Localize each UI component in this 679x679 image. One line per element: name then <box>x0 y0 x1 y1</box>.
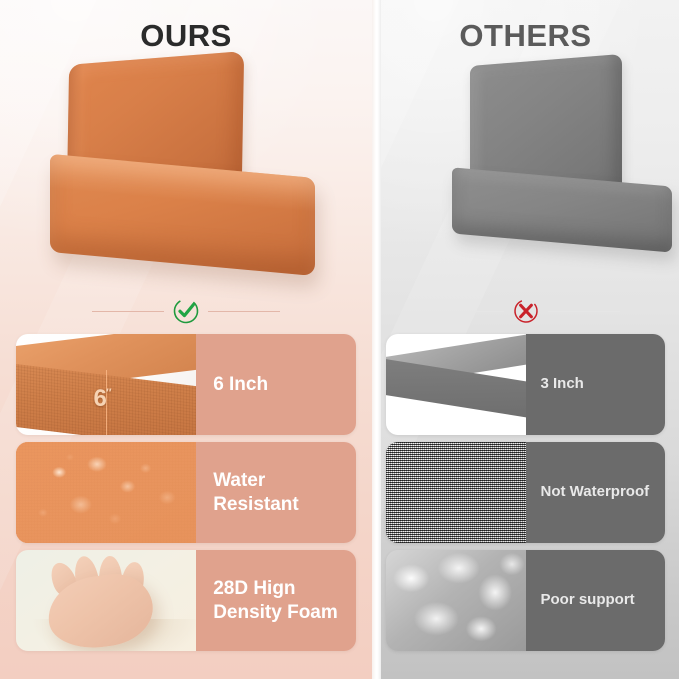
panel-divider <box>372 0 381 679</box>
others-feature-label-1: 3 Inch <box>526 334 666 435</box>
others-feature-label-3: Poor support <box>526 550 666 651</box>
comparison-infographic: OURS 6″ <box>0 0 679 679</box>
gray-mesh-fabric-photo <box>386 442 526 543</box>
others-badge-line-left <box>432 311 504 312</box>
six-inch-overlay-unit: ″ <box>106 386 111 400</box>
ours-feature-card-1: 6″ 6 Inch <box>16 334 356 435</box>
ours-hero-cushion <box>50 58 330 293</box>
ours-badge-line-right <box>208 311 280 312</box>
cushion-thickness-6in-photo: 6″ <box>16 334 196 435</box>
ours-badge-row <box>0 296 372 326</box>
loose-fiber-fill-photo <box>386 550 526 651</box>
ours-heading: OURS <box>0 18 372 54</box>
six-inch-overlay-number: 6 <box>93 385 105 412</box>
ours-feature-list: 6″ 6 Inch Water Resistant 28D Hig <box>0 334 372 658</box>
others-feature-list: 3 Inch Not Waterproof Poor support <box>372 334 679 658</box>
ours-feature-card-2: Water Resistant <box>16 442 356 543</box>
others-hero-cushion <box>452 60 679 285</box>
thin-gray-cushion-photo <box>386 334 526 435</box>
ours-badge-line-left <box>92 311 164 312</box>
others-badge-line-right <box>548 311 620 312</box>
check-circle-icon <box>171 296 201 326</box>
ours-panel: OURS 6″ <box>0 0 372 679</box>
hand-pressing-foam-photo <box>16 550 196 651</box>
ours-feature-label-1: 6 Inch <box>196 334 356 435</box>
ours-feature-label-2: Water Resistant <box>196 442 356 543</box>
others-feature-label-2: Not Waterproof <box>526 442 666 543</box>
others-panel: OTHERS 3 Inch <box>372 0 679 679</box>
cross-circle-icon <box>511 296 541 326</box>
others-heading: OTHERS <box>372 18 679 54</box>
others-badge-row <box>372 296 679 326</box>
others-feature-card-2: Not Waterproof <box>386 442 665 543</box>
others-feature-card-1: 3 Inch <box>386 334 665 435</box>
ours-feature-card-3: 28D Hign Density Foam <box>16 550 356 651</box>
ours-feature-label-3: 28D Hign Density Foam <box>196 550 356 651</box>
six-inch-overlay-label: 6″ <box>93 385 110 413</box>
ours-seat-cushion <box>50 154 315 276</box>
water-beading-fabric-photo <box>16 442 196 543</box>
others-seat-cushion <box>452 167 672 252</box>
others-feature-card-3: Poor support <box>386 550 665 651</box>
